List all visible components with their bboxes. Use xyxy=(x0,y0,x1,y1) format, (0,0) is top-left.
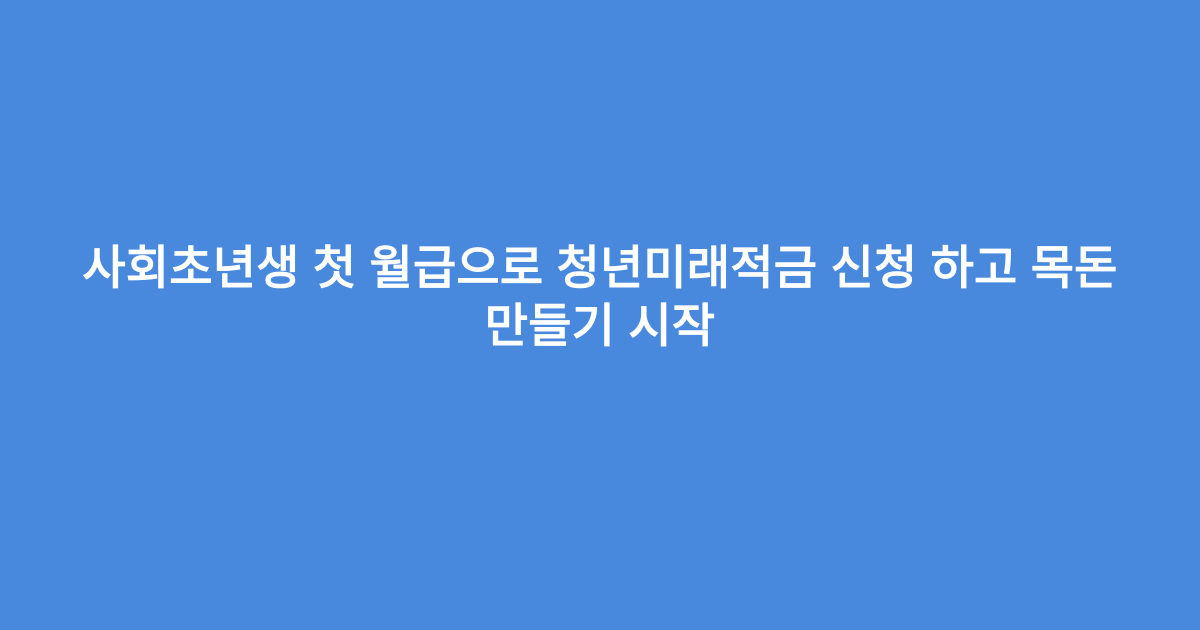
social-share-card: 사회초년생 첫 월급으로 청년미래적금 신청 하고 목돈 만들기 시작 xyxy=(0,0,1200,630)
title-block: 사회초년생 첫 월급으로 청년미래적금 신청 하고 목돈 만들기 시작 xyxy=(70,239,1130,355)
page-title: 사회초년생 첫 월급으로 청년미래적금 신청 하고 목돈 만들기 시작 xyxy=(70,239,1130,355)
